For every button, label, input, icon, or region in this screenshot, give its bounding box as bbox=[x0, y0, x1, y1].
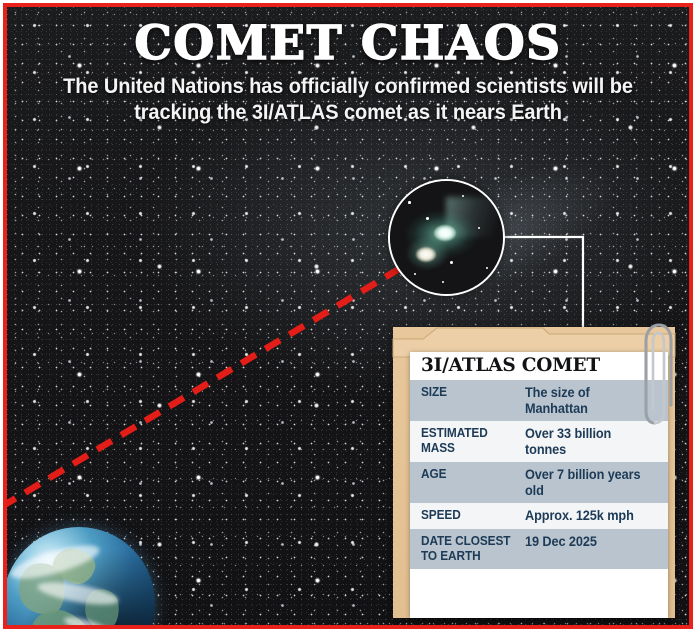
table-row: ESTIMATED MASS Over 33 billion tonnes bbox=[410, 421, 668, 462]
info-card: 3I/ATLAS COMET SIZE The size of Manhatta… bbox=[410, 352, 668, 618]
row-label-estimated-mass: ESTIMATED MASS bbox=[421, 426, 519, 457]
card-title-bar: 3I/ATLAS COMET bbox=[410, 352, 668, 380]
comet-view-star bbox=[442, 281, 444, 283]
row-label-age: AGE bbox=[421, 467, 519, 498]
comet-nucleus-primary bbox=[434, 225, 456, 241]
magnifier-circle-icon bbox=[388, 179, 505, 296]
comet-nucleus-secondary bbox=[416, 247, 436, 262]
row-value-date-closest-to-earth: 19 Dec 2025 bbox=[525, 534, 653, 564]
page-subtitle: The United Nations has officially confir… bbox=[55, 73, 641, 125]
row-label-date-closest-to-earth: DATE CLOSEST TO EARTH bbox=[421, 534, 519, 564]
comet-view-star bbox=[486, 267, 488, 269]
paperclip-inner-wire bbox=[653, 333, 664, 423]
infographic-root: COMET CHAOS The United Nations has offic… bbox=[0, 0, 696, 632]
page-title: COMET CHAOS bbox=[7, 19, 689, 69]
row-value-speed: Approx. 125k mph bbox=[525, 508, 653, 524]
table-row: SPEED Approx. 125k mph bbox=[410, 503, 668, 529]
comet-view-star bbox=[426, 217, 429, 220]
manila-folder-icon: 3I/ATLAS COMET SIZE The size of Manhatta… bbox=[393, 327, 675, 618]
headline-block: COMET CHAOS The United Nations has offic… bbox=[7, 7, 689, 125]
row-value-size: The size of Manhattan bbox=[525, 385, 653, 416]
paperclip-outer-wire bbox=[646, 325, 671, 423]
table-row: DATE CLOSEST TO EARTH 19 Dec 2025 bbox=[410, 529, 668, 569]
card-title: 3I/ATLAS COMET bbox=[421, 356, 600, 376]
row-value-estimated-mass: Over 33 billion tonnes bbox=[525, 426, 653, 457]
comet-view-star bbox=[408, 201, 411, 204]
table-row: SIZE The size of Manhattan bbox=[410, 380, 668, 421]
comet-icon bbox=[390, 181, 503, 294]
row-value-age: Over 7 billion years old bbox=[525, 467, 653, 498]
table-row: AGE Over 7 billion years old bbox=[410, 462, 668, 503]
row-label-size: SIZE bbox=[421, 385, 519, 416]
row-label-speed: SPEED bbox=[421, 508, 519, 524]
paperclip-icon bbox=[642, 319, 676, 427]
